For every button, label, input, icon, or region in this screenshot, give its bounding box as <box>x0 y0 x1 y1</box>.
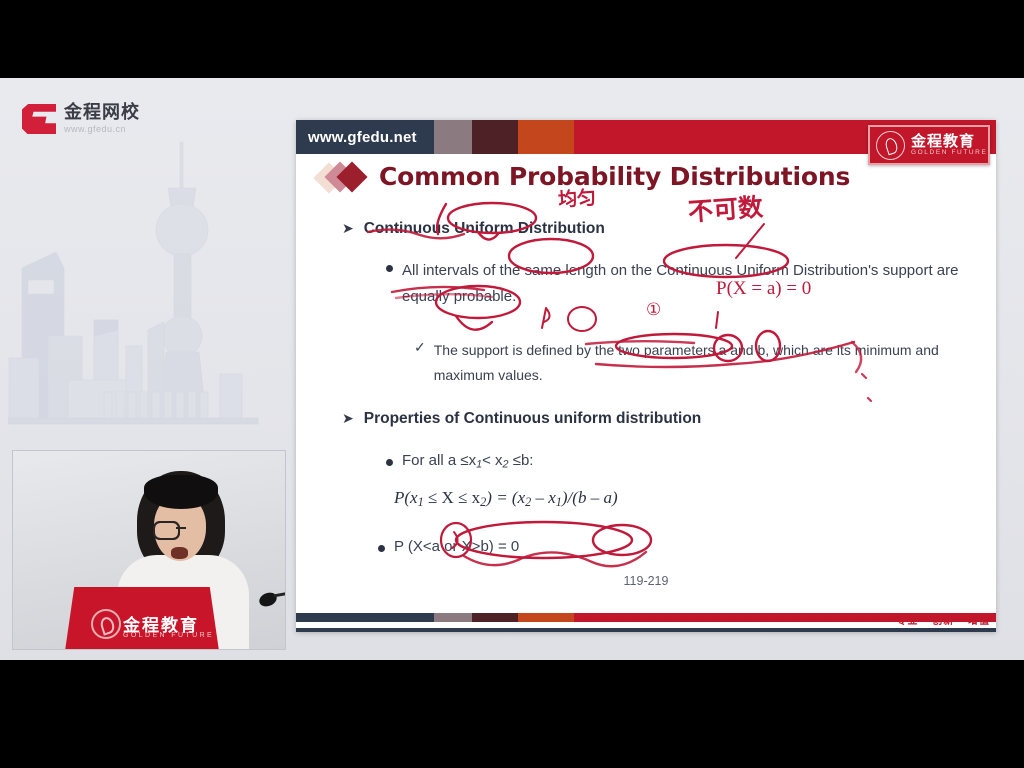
letterbox-top <box>0 0 1024 78</box>
slide-url-box: www.gfedu.net <box>296 120 434 154</box>
header-logo-en: GOLDEN FUTURE <box>911 149 987 156</box>
header-band-4 <box>518 120 574 154</box>
subbullet-support-definition: ✓ The support is defined by the two para… <box>414 338 959 388</box>
bullet2-pre: For all a ≤x <box>402 452 476 469</box>
golden-future-seal-icon <box>91 609 121 639</box>
formula-left: P(x <box>394 488 418 507</box>
podium-name-en: GOLDEN FUTURE <box>123 632 214 639</box>
lecture-video-player: 金程网校 www.gfedu.cn 金程教育 GOLDEN FUTURE www… <box>0 0 1024 768</box>
footer-band-3 <box>472 613 518 622</box>
footer-band-1 <box>296 613 434 622</box>
bullet-for-all-range: For all a ≤x1< x2 ≤b: <box>386 452 533 471</box>
lecture-stage: 金程网校 www.gfedu.cn 金程教育 GOLDEN FUTURE www… <box>0 78 1024 660</box>
brand-url: www.gfedu.cn <box>64 125 140 134</box>
presenter-fringe <box>144 475 218 509</box>
header-band-2 <box>434 120 472 154</box>
chevron-right-bullet-icon: ➤ <box>342 411 354 425</box>
heading-continuous-uniform: ➤ Continuous Uniform Distribution <box>342 220 605 238</box>
diamond-cluster-icon <box>318 164 370 190</box>
golden-future-seal-icon <box>876 131 905 160</box>
slide: www.gfedu.net 金程教育 GOLDEN FUTURE Common … <box>296 120 996 632</box>
footer-rule <box>296 628 996 632</box>
chevron-right-bullet-icon: ➤ <box>342 221 354 235</box>
heading2-label: Properties of Continuous uniform distrib… <box>364 410 702 428</box>
brand-name-cn: 金程网校 <box>64 104 140 122</box>
formula-mid: ≤ X ≤ x <box>424 488 480 507</box>
page-title: Common Probability Distributions <box>379 162 850 191</box>
round-bullet-icon <box>386 459 393 466</box>
bullet-all-intervals: All intervals of the same length on the … <box>386 258 966 310</box>
bullet1-label: All intervals of the same length on the … <box>402 258 966 310</box>
header-logo-cn: 金程教育 <box>911 134 987 150</box>
footer-slogan: 专业 · 创新 · 增值 <box>896 612 990 627</box>
round-bullet-icon <box>378 545 385 552</box>
footer-band-2 <box>434 613 472 622</box>
slide-footer <box>296 613 996 622</box>
slide-url: www.gfedu.net <box>296 129 417 146</box>
shanghai-skyline-watermark <box>0 78 296 460</box>
letterbox-bottom <box>0 660 1024 768</box>
footer-band-4 <box>518 613 574 622</box>
bullet2-post: ≤b: <box>509 452 534 469</box>
slide-header-logo: 金程教育 GOLDEN FUTURE <box>868 125 990 165</box>
round-bullet-icon <box>386 265 393 272</box>
brand-logo: 金程网校 www.gfedu.cn <box>22 104 140 134</box>
bullet-outside-support-zero: P (X<a or X>b) = 0 <box>378 538 519 555</box>
presenter-glasses <box>153 521 209 536</box>
formula-minus: – x <box>531 488 556 507</box>
presenter-mouth <box>171 547 188 559</box>
bullet2-mid: < x <box>482 452 502 469</box>
heading-properties: ➤ Properties of Continuous uniform distr… <box>342 410 701 428</box>
presenter-video[interactable]: 金程教育 GOLDEN FUTURE <box>12 450 286 650</box>
slide-title-row: Common Probability Distributions <box>318 162 850 191</box>
uniform-probability-formula: P(x1 ≤ X ≤ x2) = (x2 – x1)/(b – a) <box>394 488 618 510</box>
page-number: 119-219 <box>296 574 996 588</box>
header-band-3 <box>472 120 518 154</box>
formula-tail: )/(b – a) <box>562 488 618 507</box>
sub1-label: The support is defined by the two parame… <box>434 338 959 388</box>
formula-right: ) = (x <box>486 488 525 507</box>
checkmark-bullet-icon: ✓ <box>414 339 426 388</box>
bullet3-label: P (X<a or X>b) = 0 <box>394 538 519 555</box>
bullet2-label: For all a ≤x1< x2 ≤b: <box>402 452 533 471</box>
gf-monogram-icon <box>22 104 56 134</box>
heading1-label: Continuous Uniform Distribution <box>364 220 605 238</box>
